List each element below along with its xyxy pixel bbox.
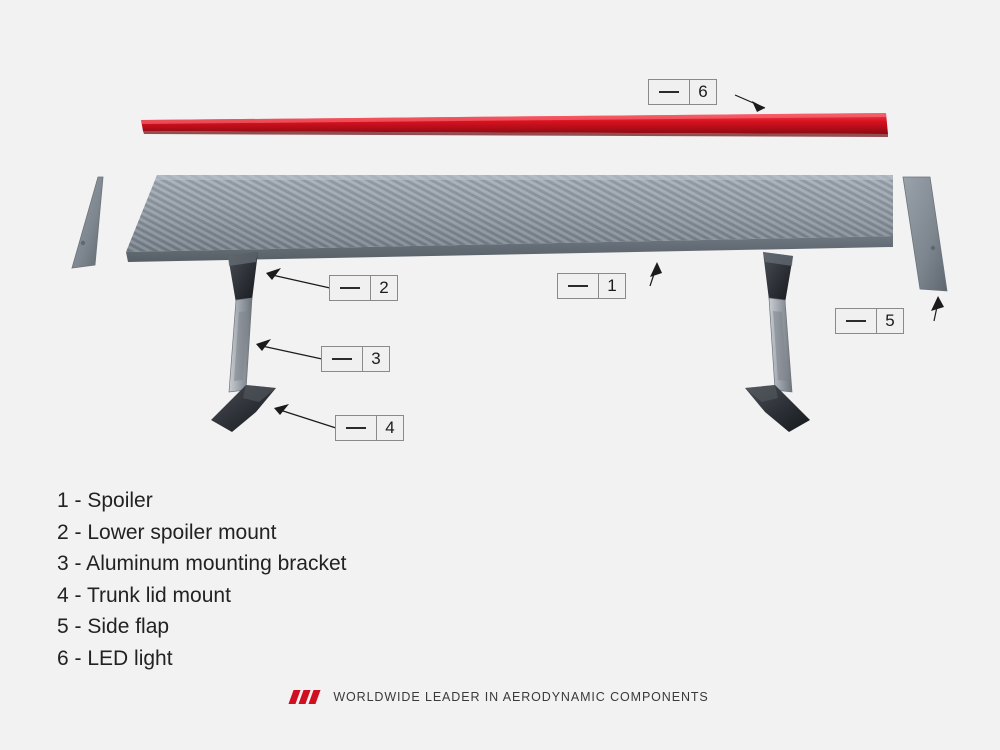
part-support-right [745,252,810,432]
callout-dash-6 [649,80,690,104]
callout-badge-4[interactable]: 4 [335,415,404,441]
callout-badge-5[interactable]: 5 [835,308,904,334]
brand-stripes-icon [289,690,324,704]
callout-badge-1[interactable]: 1 [557,273,626,299]
callout-leader-lines [262,95,938,428]
diagram-canvas: 6 1 2 3 4 5 1 - Spoiler 2 - Lower spoile… [0,0,1000,750]
part-side-flap-left [72,177,103,268]
callout-dash-3 [322,347,363,371]
callout-dash-1 [558,274,599,298]
callout-number-2: 2 [371,276,397,300]
footer-bar: WORLDWIDE LEADER IN AERODYNAMIC COMPONEN… [0,690,1000,704]
callout-number-4: 4 [377,416,403,440]
callout-number-1: 1 [599,274,625,298]
legend-item-5: 5 - Side flap [57,611,577,643]
callout-badge-6[interactable]: 6 [648,79,717,105]
callout-badge-2[interactable]: 2 [329,275,398,301]
legend-item-3: 3 - Aluminum mounting bracket [57,548,577,580]
callout-number-5: 5 [877,309,903,333]
legend-item-6: 6 - LED light [57,643,577,675]
footer-tagline: WORLDWIDE LEADER IN AERODYNAMIC COMPONEN… [333,690,708,704]
part-spoiler-wing [126,175,893,262]
callout-dash-4 [336,416,377,440]
legend-item-1: 1 - Spoiler [57,485,577,517]
parts-legend: 1 - Spoiler 2 - Lower spoiler mount 3 - … [57,485,577,674]
part-led-light [141,113,888,137]
callout-number-3: 3 [363,347,389,371]
part-side-flap-right [903,177,947,291]
callout-dash-2 [330,276,371,300]
legend-item-4: 4 - Trunk lid mount [57,580,577,612]
callout-dash-5 [836,309,877,333]
legend-item-2: 2 - Lower spoiler mount [57,517,577,549]
callout-number-6: 6 [690,80,716,104]
callout-badge-3[interactable]: 3 [321,346,390,372]
